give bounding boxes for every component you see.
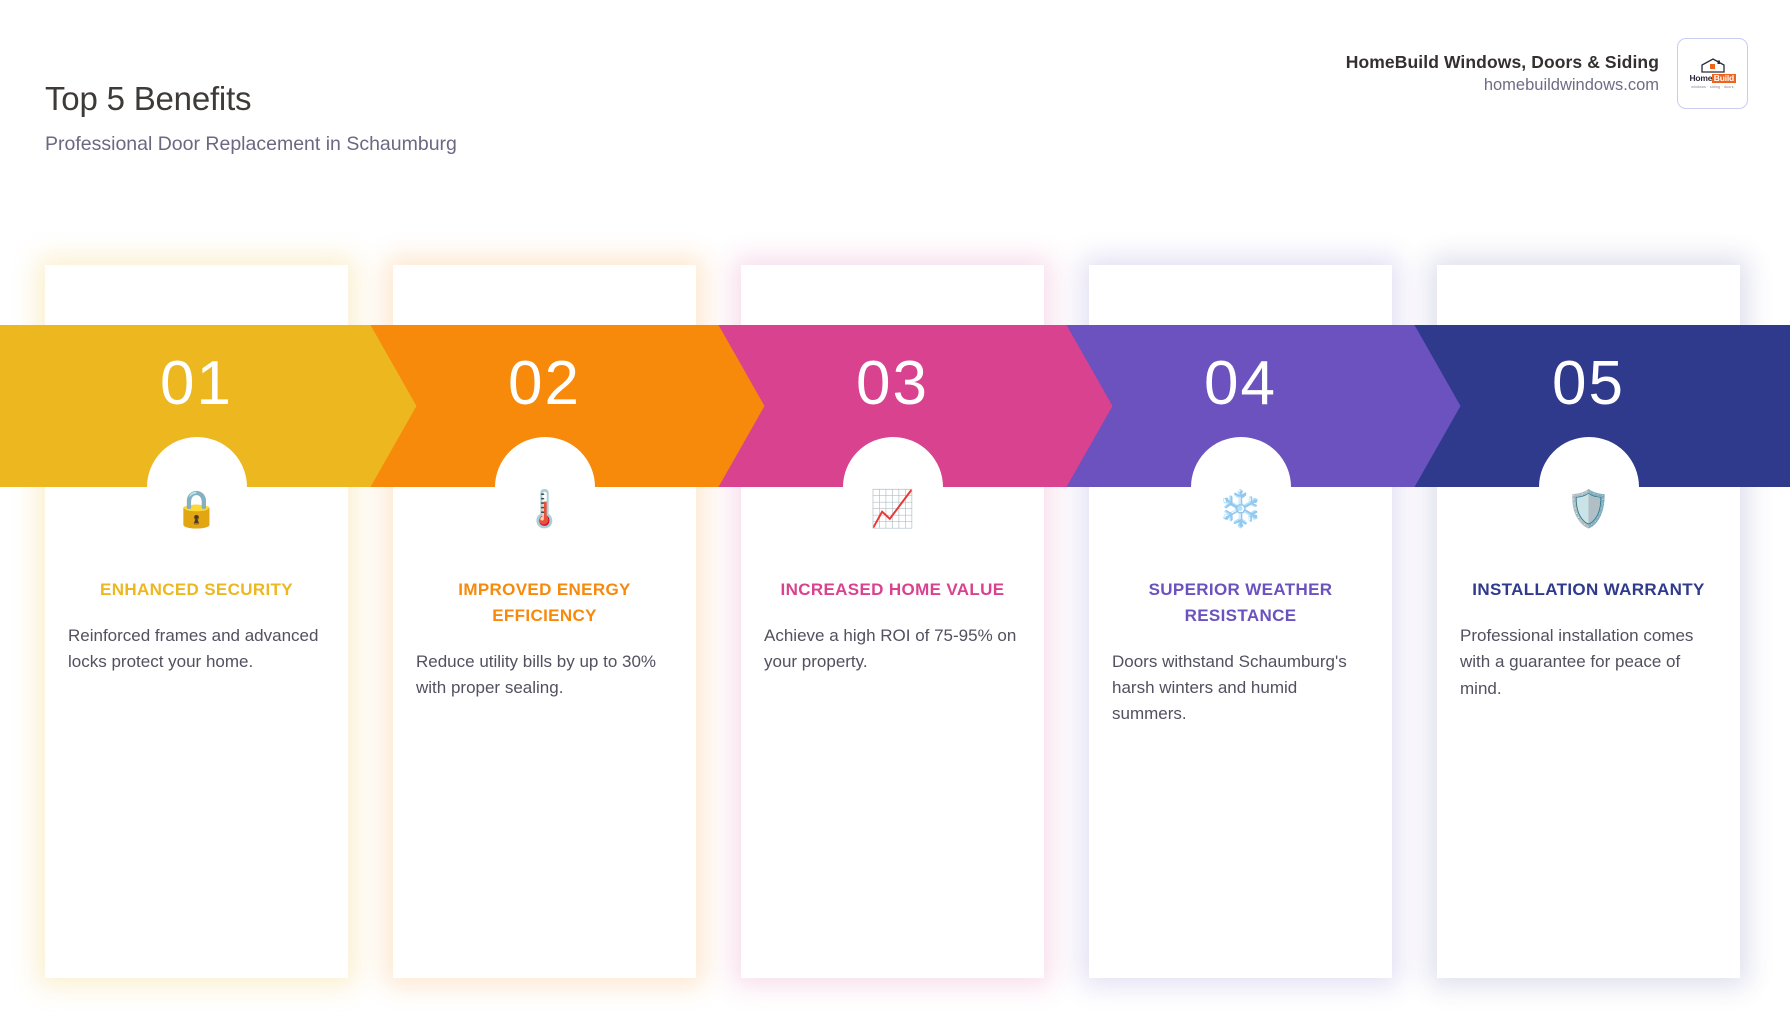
benefit-title: SUPERIOR WEATHER RESISTANCE: [1111, 577, 1370, 629]
benefit-card-body: 📈INCREASED HOME VALUEAchieve a high ROI …: [741, 487, 1044, 676]
benefit-title: ENHANCED SECURITY: [67, 577, 326, 603]
shield-icon: 🛡️: [1459, 487, 1718, 531]
infographic-page: HomeBuild Windows, Doors & Siding homebu…: [0, 0, 1790, 1024]
benefit-card-body: 🌡️IMPROVED ENERGY EFFICIENCYReduce utili…: [393, 487, 696, 701]
benefit-card-body: ❄️SUPERIOR WEATHER RESISTANCEDoors withs…: [1089, 487, 1392, 728]
benefit-description: Reduce utility bills by up to 30% with p…: [415, 649, 674, 702]
benefit-card-body: 🛡️INSTALLATION WARRANTYProfessional inst…: [1437, 487, 1740, 702]
benefit-description: Reinforced frames and advanced locks pro…: [67, 623, 326, 676]
benefit-card-body: 🔒ENHANCED SECURITYReinforced frames and …: [45, 487, 348, 676]
benefit-title: INSTALLATION WARRANTY: [1459, 577, 1718, 603]
number-band-layer: 0504030201: [0, 325, 1790, 487]
benefit-description: Professional installation comes with a g…: [1459, 623, 1718, 702]
lock-icon: 🔒: [67, 487, 326, 531]
benefit-title: INCREASED HOME VALUE: [763, 577, 1022, 603]
benefits-deck: 🔒ENHANCED SECURITYReinforced frames and …: [0, 0, 1790, 1024]
chart-increasing-icon: 📈: [763, 487, 1022, 531]
snowflake-icon: ❄️: [1111, 487, 1370, 531]
thermometer-icon: 🌡️: [415, 487, 674, 531]
benefit-description: Doors withstand Schaumburg's harsh winte…: [1111, 649, 1370, 728]
benefit-description: Achieve a high ROI of 75-95% on your pro…: [763, 623, 1022, 676]
benefit-title: IMPROVED ENERGY EFFICIENCY: [415, 577, 674, 629]
